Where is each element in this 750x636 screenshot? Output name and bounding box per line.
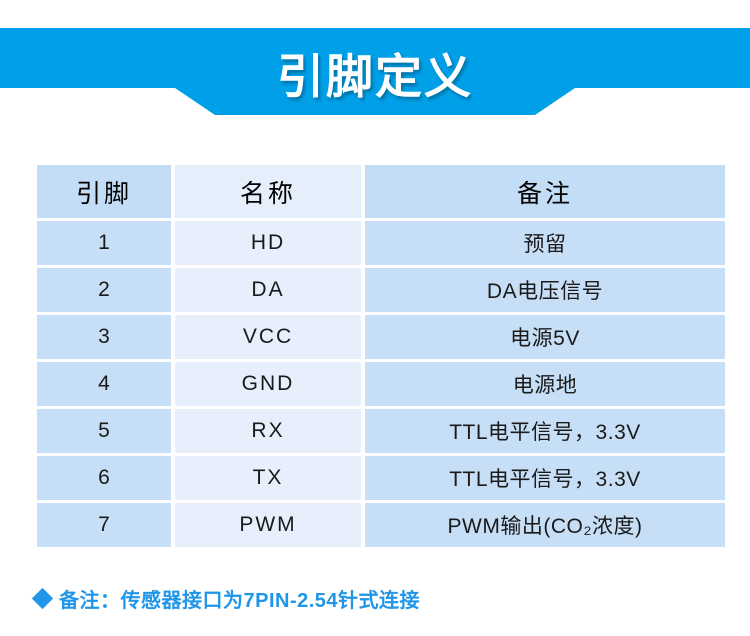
header-cell-note: 备注 <box>365 165 725 218</box>
table-body: 1 HD 预留 2 DA DA电压信号 3 VCC 电源5V 4 GND 电源地… <box>37 221 725 547</box>
table-row: 1 HD 预留 <box>37 221 725 265</box>
cell-pin: 1 <box>37 221 171 265</box>
cell-pin: 5 <box>37 409 171 453</box>
table-header-row: 引脚 名称 备注 <box>37 165 725 218</box>
table-header: 引脚 名称 备注 <box>37 165 725 218</box>
cell-pin: 3 <box>37 315 171 359</box>
table-row: 5 RX TTL电平信号，3.3V <box>37 409 725 453</box>
header-cell-pin: 引脚 <box>37 165 171 218</box>
table-row: 7 PWM PWM输出(CO₂浓度) <box>37 503 725 547</box>
cell-note: PWM输出(CO₂浓度) <box>365 503 725 547</box>
header-cell-name: 名称 <box>175 165 361 218</box>
table-row: 3 VCC 电源5V <box>37 315 725 359</box>
cell-note: TTL电平信号，3.3V <box>365 456 725 500</box>
cell-name: GND <box>175 362 361 406</box>
cell-note: 电源地 <box>365 362 725 406</box>
table-row: 4 GND 电源地 <box>37 362 725 406</box>
table-row: 6 TX TTL电平信号，3.3V <box>37 456 725 500</box>
diamond-icon <box>32 588 53 609</box>
cell-note: 电源5V <box>365 315 725 359</box>
cell-note: 预留 <box>365 221 725 265</box>
cell-name: VCC <box>175 315 361 359</box>
page-title: 引脚定义 <box>0 28 750 116</box>
pin-definition-table: 引脚 名称 备注 1 HD 预留 2 DA DA电压信号 3 VCC 电源5V … <box>33 162 729 550</box>
cell-pin: 6 <box>37 456 171 500</box>
cell-pin: 7 <box>37 503 171 547</box>
cell-name: PWM <box>175 503 361 547</box>
cell-pin: 4 <box>37 362 171 406</box>
cell-name: DA <box>175 268 361 312</box>
page-banner: 引脚定义 <box>0 0 750 130</box>
footnote: 备注：传感器接口为7PIN-2.54针式连接 <box>35 584 420 613</box>
footnote-text: 备注：传感器接口为7PIN-2.54针式连接 <box>59 584 420 613</box>
cell-note: TTL电平信号，3.3V <box>365 409 725 453</box>
cell-note: DA电压信号 <box>365 268 725 312</box>
cell-name: TX <box>175 456 361 500</box>
cell-name: RX <box>175 409 361 453</box>
cell-name: HD <box>175 221 361 265</box>
cell-pin: 2 <box>37 268 171 312</box>
table-row: 2 DA DA电压信号 <box>37 268 725 312</box>
